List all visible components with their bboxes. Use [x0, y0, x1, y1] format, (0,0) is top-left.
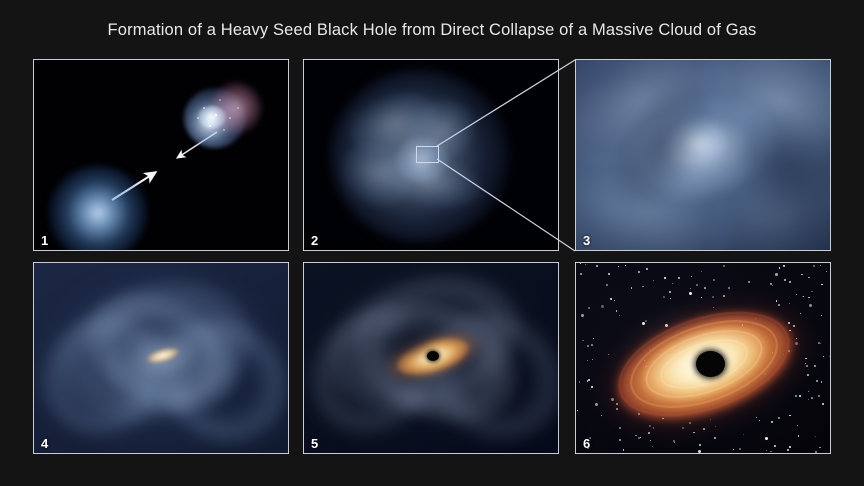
pink-blue-galaxy-shape [182, 82, 264, 154]
panel-5-artwork [304, 263, 558, 453]
star [664, 277, 665, 278]
star [811, 291, 812, 292]
star [770, 451, 771, 452]
star [610, 298, 612, 300]
star [616, 403, 618, 405]
star [748, 281, 750, 283]
star [653, 280, 654, 281]
star [582, 340, 583, 341]
star [645, 320, 647, 322]
star [808, 399, 809, 400]
star [815, 436, 816, 437]
star [715, 426, 716, 427]
star [818, 395, 820, 397]
star [588, 379, 590, 381]
panel-turbulent-gas-closeup[interactable]: 3 [575, 59, 831, 251]
bright-protostellar-core-shape [145, 345, 181, 367]
star [701, 271, 702, 272]
star [789, 281, 791, 283]
star [820, 343, 821, 344]
panel-number-label: 5 [311, 437, 318, 450]
star [623, 449, 624, 450]
star [714, 437, 715, 438]
panel-number-label: 1 [41, 234, 48, 247]
star [821, 315, 822, 316]
star [816, 380, 818, 382]
star [649, 349, 650, 350]
panel-2-artwork [304, 60, 558, 250]
star [774, 445, 776, 447]
star [653, 427, 654, 428]
star [652, 446, 653, 447]
star [638, 413, 640, 415]
bright-accretion-disk-shape [604, 292, 807, 440]
star [616, 408, 618, 410]
star [581, 314, 584, 317]
panel-number-label: 3 [583, 234, 590, 247]
star [795, 395, 797, 397]
star [739, 448, 741, 450]
star [616, 310, 617, 311]
star [601, 415, 602, 416]
star [789, 303, 790, 304]
star [770, 283, 772, 285]
star [614, 300, 615, 301]
star [826, 271, 827, 272]
star [587, 360, 588, 361]
star [625, 265, 626, 266]
star [593, 338, 594, 339]
panel-seed-black-hole-forms[interactable]: 5 [303, 262, 559, 454]
star [698, 450, 701, 453]
star [802, 296, 803, 297]
star [579, 381, 580, 382]
star [819, 447, 820, 448]
star [733, 449, 734, 450]
disk-outer-glow [380, 322, 486, 391]
star [689, 292, 692, 295]
star [823, 356, 824, 357]
star [787, 449, 789, 451]
star [772, 285, 773, 286]
star [814, 365, 816, 367]
star [691, 276, 692, 277]
panel-number-label: 2 [311, 234, 318, 247]
blue-gas-blob-shape [48, 165, 148, 251]
star [822, 403, 824, 405]
star [663, 296, 665, 298]
star [723, 265, 725, 267]
star [815, 451, 817, 453]
star [713, 307, 714, 308]
star [821, 381, 822, 382]
star [673, 440, 675, 442]
star [712, 296, 714, 298]
star [646, 268, 648, 270]
star [606, 284, 608, 286]
zoom-box [416, 146, 439, 163]
disk-outer-halo [589, 280, 822, 454]
star [608, 354, 609, 355]
star [771, 421, 773, 423]
star [713, 279, 715, 281]
star [806, 365, 808, 367]
star [805, 363, 806, 364]
star [587, 380, 588, 381]
star [595, 403, 598, 406]
panel-1-sparkles [34, 60, 289, 251]
page-title: Formation of a Heavy Seed Black Hole fro… [0, 21, 864, 40]
star [591, 386, 593, 388]
star [807, 374, 809, 376]
star [803, 296, 804, 297]
star [809, 304, 812, 307]
star [672, 283, 673, 284]
star [767, 341, 768, 342]
star [669, 291, 671, 293]
star [800, 313, 801, 314]
star [650, 440, 651, 441]
star [649, 425, 651, 427]
star [776, 300, 777, 301]
star [818, 342, 819, 343]
star [638, 271, 640, 273]
star [588, 307, 590, 309]
star [764, 373, 766, 375]
star [798, 435, 799, 436]
star [670, 298, 671, 299]
star [704, 287, 706, 289]
star [811, 397, 813, 399]
star [682, 427, 684, 429]
panel-1-artwork [34, 60, 288, 250]
star [788, 350, 790, 352]
star [765, 437, 768, 440]
star [596, 265, 598, 267]
star [742, 324, 743, 325]
star [795, 342, 798, 345]
star [587, 345, 589, 347]
star [585, 264, 586, 265]
panel-merging-protogalaxies[interactable]: 1 [33, 59, 289, 251]
star [642, 322, 645, 325]
star [710, 419, 711, 420]
star [662, 418, 663, 419]
star [799, 395, 801, 397]
star [591, 344, 593, 346]
star [699, 444, 701, 446]
star [619, 427, 621, 429]
star [674, 442, 675, 443]
star [580, 273, 582, 275]
star [821, 284, 822, 285]
star [788, 322, 790, 324]
star [638, 437, 640, 439]
panel-heavy-seed-black-hole[interactable]: 6 [575, 262, 831, 454]
star [789, 330, 790, 331]
star [793, 325, 795, 327]
star [690, 288, 691, 289]
star [611, 398, 614, 401]
star [631, 287, 632, 288]
star [796, 294, 797, 295]
panel-collapsing-gas-disk[interactable]: 4 [33, 262, 289, 454]
star [820, 265, 821, 266]
star [759, 420, 760, 421]
star [755, 318, 756, 319]
star [703, 428, 705, 430]
star [665, 324, 668, 327]
star [635, 435, 636, 436]
star [644, 360, 645, 361]
star [619, 315, 620, 316]
star [775, 273, 778, 276]
star [640, 437, 641, 438]
star [789, 446, 791, 448]
star [766, 450, 767, 451]
star [756, 417, 757, 418]
star [618, 266, 619, 267]
star [689, 422, 691, 424]
star [693, 432, 694, 433]
star [642, 286, 643, 287]
star [789, 415, 790, 416]
panel-massive-gas-cloud[interactable]: 2 [303, 59, 559, 251]
disk-inner-bright [633, 312, 775, 414]
panel-number-label: 6 [583, 437, 590, 450]
disk-spiral-bands [576, 263, 831, 454]
star [779, 267, 780, 268]
star [797, 425, 798, 426]
panel-3-artwork [576, 60, 830, 250]
star [813, 265, 815, 267]
figure-canvas: Formation of a Heavy Seed Black Hole fro… [0, 0, 864, 486]
star [592, 359, 593, 360]
star [778, 304, 780, 306]
star [648, 432, 650, 434]
star [829, 356, 830, 357]
star [783, 265, 785, 267]
star [772, 352, 773, 353]
starfield [576, 263, 830, 453]
star [590, 389, 591, 390]
black-hole-shape [427, 351, 439, 361]
star [796, 338, 797, 339]
star [728, 287, 730, 289]
star [645, 366, 646, 367]
star [808, 391, 809, 392]
panel-1-arrows [34, 60, 289, 251]
star [723, 295, 725, 297]
star [696, 284, 698, 286]
star [805, 358, 806, 359]
panel-4-artwork [34, 263, 288, 453]
star [784, 279, 786, 281]
star [608, 273, 610, 275]
star [801, 274, 802, 275]
star [808, 297, 809, 298]
star [743, 434, 744, 435]
star [808, 277, 809, 278]
star [678, 277, 680, 279]
star [577, 410, 578, 411]
star [601, 305, 604, 308]
star [701, 297, 702, 298]
star [580, 263, 581, 264]
star [778, 417, 780, 419]
black-hole-shape [696, 351, 725, 377]
star [783, 354, 784, 355]
star [619, 439, 621, 441]
panel-number-label: 4 [41, 437, 48, 450]
panel-6-artwork [576, 263, 830, 453]
orange-accretion-disk-shape [393, 331, 473, 382]
